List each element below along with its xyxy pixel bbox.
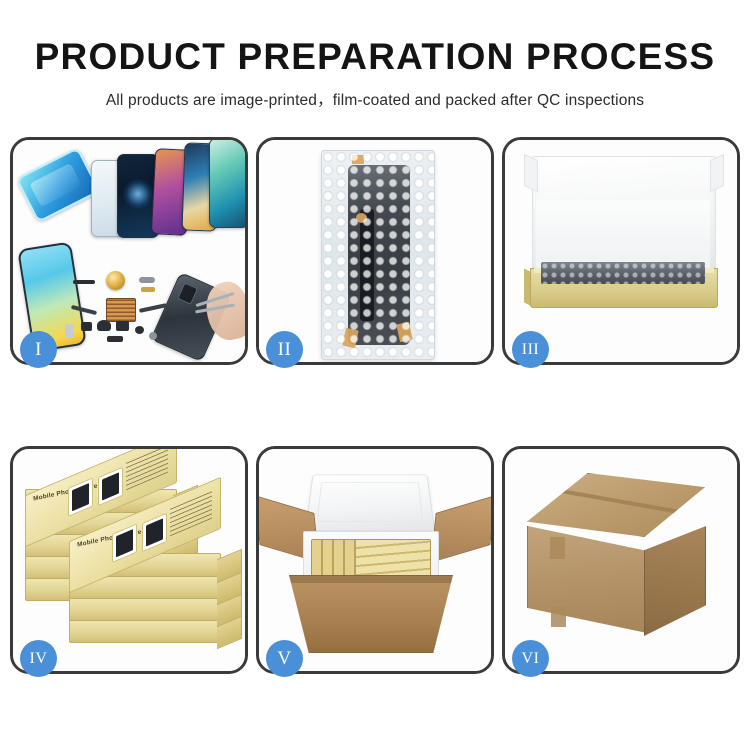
carton-side-face-icon bbox=[644, 526, 706, 636]
carton-tape-icon bbox=[550, 537, 565, 559]
small-part-icon bbox=[97, 320, 111, 331]
stacked-box-icon bbox=[69, 619, 221, 643]
process-step-grid: I II III bbox=[10, 137, 740, 674]
blue-adhesive-film-icon bbox=[15, 147, 100, 223]
carton-seam-icon bbox=[543, 486, 693, 516]
small-part-icon bbox=[107, 336, 123, 342]
box-window-image-icon bbox=[68, 477, 93, 517]
process-step-3[interactable]: III bbox=[502, 137, 740, 365]
header: PRODUCT PREPARATION PROCESS All products… bbox=[0, 0, 750, 110]
step-badge-3: III bbox=[512, 331, 549, 368]
small-part-icon bbox=[81, 322, 92, 331]
process-step-3-image bbox=[505, 140, 737, 362]
foam-case-lid-icon bbox=[305, 474, 435, 531]
bubble-wrapped-contents-icon bbox=[541, 262, 705, 284]
small-part-icon bbox=[135, 326, 144, 334]
step-badge-1: I bbox=[20, 331, 57, 368]
small-part-icon bbox=[149, 332, 157, 340]
stacked-box-icon bbox=[69, 597, 221, 621]
screw-grid-part-icon bbox=[106, 298, 136, 322]
wrapped-screen-icon bbox=[348, 165, 410, 345]
small-part-icon bbox=[139, 277, 155, 283]
tape-piece-icon bbox=[356, 213, 367, 223]
small-part-icon bbox=[141, 287, 155, 292]
small-part-icon bbox=[116, 321, 129, 331]
process-step-1-image bbox=[13, 140, 245, 362]
tweezers-icon bbox=[193, 290, 239, 328]
box-spec-lines-icon bbox=[126, 449, 168, 490]
process-step-1[interactable]: I bbox=[10, 137, 248, 365]
process-step-5[interactable]: V bbox=[256, 446, 494, 674]
box-window-image-icon bbox=[142, 513, 167, 553]
gold-coil-part-icon bbox=[106, 271, 125, 290]
box-stack-icon: Mobile Phone Spare Parts Mobile Phone Sp… bbox=[23, 461, 241, 661]
box-spec-lines-icon bbox=[170, 491, 212, 537]
wrapped-flex-cable-icon bbox=[360, 209, 374, 321]
page-title: PRODUCT PREPARATION PROCESS bbox=[0, 38, 750, 77]
process-step-4-image: Mobile Phone Spare Parts Mobile Phone Sp… bbox=[13, 449, 245, 671]
small-part-icon bbox=[73, 280, 95, 284]
carton-flap-right-icon bbox=[431, 495, 491, 563]
box-window-image-icon bbox=[98, 467, 123, 507]
tape-piece-icon bbox=[342, 328, 358, 348]
phone-display-green-icon bbox=[209, 140, 245, 228]
step-badge-2: II bbox=[266, 331, 303, 368]
packed-boxes-icon bbox=[311, 539, 431, 581]
process-step-5-image bbox=[259, 449, 491, 671]
process-step-6-image bbox=[505, 449, 737, 671]
carton-front-face-icon bbox=[527, 519, 647, 633]
tape-piece-icon bbox=[352, 155, 364, 164]
carton-tape-icon bbox=[551, 607, 566, 627]
tape-piece-icon bbox=[396, 322, 412, 342]
process-step-2[interactable]: II bbox=[256, 137, 494, 365]
process-step-6[interactable]: VI bbox=[502, 446, 740, 674]
process-step-2-image bbox=[259, 140, 491, 362]
foam-liner-icon bbox=[536, 200, 710, 270]
page-subtitle: All products are image-printed，film-coat… bbox=[0, 88, 750, 110]
step-badge-5: V bbox=[266, 640, 303, 677]
small-part-icon bbox=[65, 324, 74, 338]
process-step-4[interactable]: Mobile Phone Spare Parts Mobile Phone Sp… bbox=[10, 446, 248, 674]
shipping-carton-open-icon bbox=[289, 575, 453, 653]
carton-top-face-icon bbox=[527, 473, 705, 537]
step-badge-4: IV bbox=[20, 640, 57, 677]
box-window-image-icon bbox=[112, 523, 137, 563]
bubble-wrap-package-icon bbox=[321, 150, 435, 360]
step-badge-6: VI bbox=[512, 640, 549, 677]
